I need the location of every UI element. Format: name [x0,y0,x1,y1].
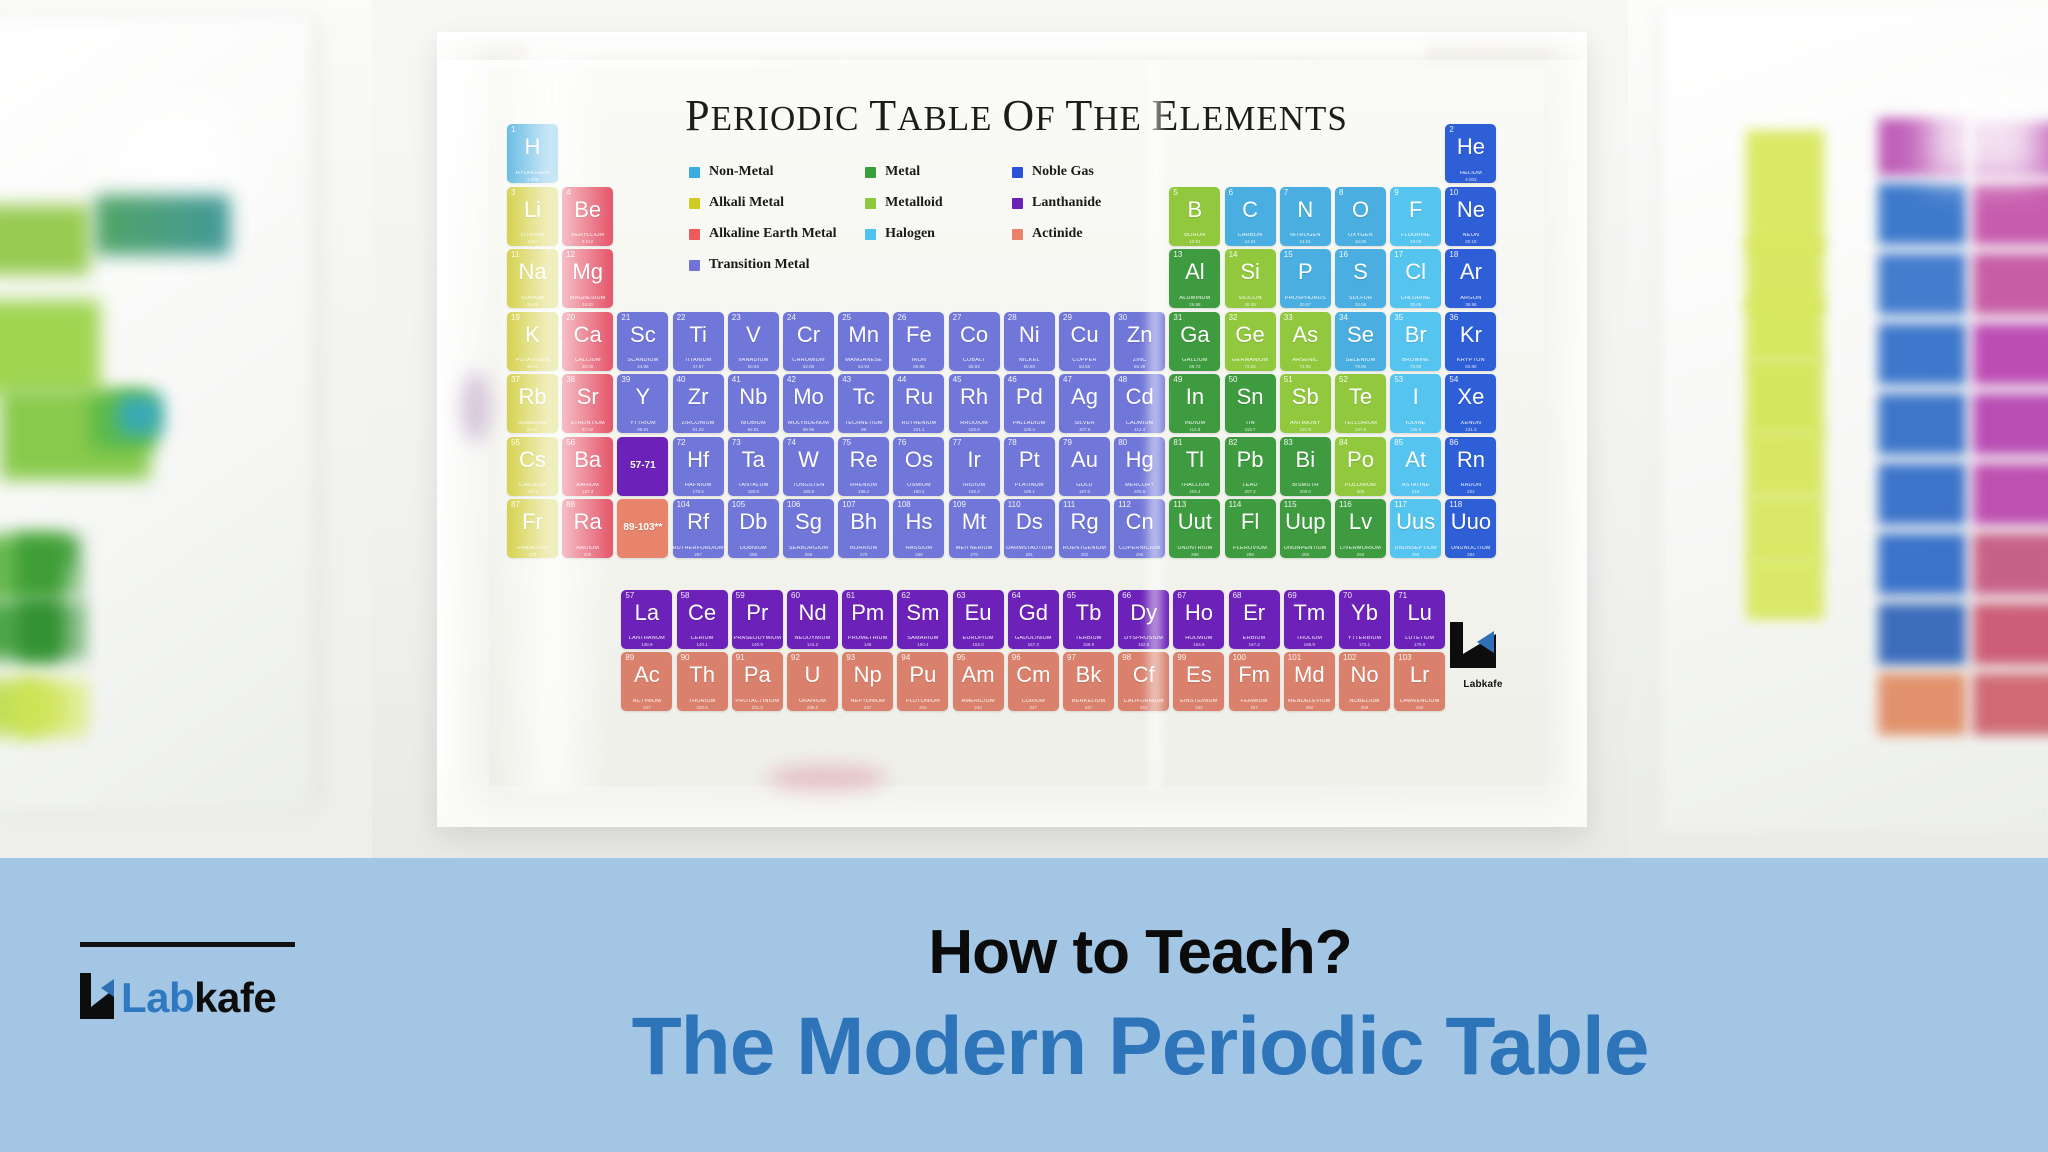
element-name: LEAD [1225,483,1276,489]
atomic-number: 78 [1008,439,1017,447]
atomic-weight: 126.9 [1390,428,1441,433]
element-cell-Ag[interactable]: 47AgSILVER107.9 [1059,374,1110,433]
element-cell-I[interactable]: 53IIODINE126.9 [1390,374,1441,433]
atomic-weight: 259 [1339,706,1390,711]
element-cell-Rf[interactable]: 104RfRUTHERFORDIUM267 [673,499,724,558]
element-name: HELIUM [1445,171,1496,177]
element-cell-Sb[interactable]: 51SbANTIMONY121.8 [1280,374,1331,433]
element-cell-Y[interactable]: 39YYTTRIUM88.91 [617,374,668,433]
element-cell-Sm[interactable]: 62SmSAMARIUM150.4 [897,590,948,649]
element-symbol: Pr [732,602,783,624]
element-name: HAFNIUM [673,483,724,489]
atomic-number: 109 [953,501,966,509]
element-symbol: Sc [617,324,668,346]
atomic-weight: 47.87 [673,365,724,370]
element-cell-Fe[interactable]: 26FeIRON55.85 [893,312,944,371]
element-cell-Fl[interactable]: 114FlFLEROVIUM289 [1225,499,1276,558]
element-name: TANTALUM [728,483,779,489]
element-symbol: Hs [893,511,944,533]
atomic-weight: 32.06 [1335,303,1386,308]
atomic-weight: 267 [673,553,724,558]
atomic-weight: 227 [621,706,672,711]
atomic-number: 94 [901,654,910,662]
element-cell-Po[interactable]: 84PoPOLONIUM209 [1335,437,1386,496]
element-name: THORIUM [677,699,728,705]
atomic-weight: 232.0 [677,706,728,711]
element-name: SEABORGIUM [783,546,834,552]
element-name: TITANIUM [673,358,724,364]
atomic-number: 9 [1394,189,1398,197]
element-symbol: 57-71 [617,461,668,471]
element-name: BERKELIUM [1063,699,1114,705]
element-cell-U[interactable]: 92UURANIUM238.0 [787,652,838,711]
labkafe-mark-icon [1450,622,1496,668]
atomic-weight: 95.96 [783,428,834,433]
element-name: TELLURIUM [1335,421,1386,427]
element-symbol: At [1390,449,1441,471]
element-symbol: Ar [1445,261,1496,283]
element-symbol: Kr [1445,324,1496,346]
element-name: NEODYMIUM [787,636,838,642]
atomic-number: 23 [732,314,741,322]
atomic-number: 80 [1118,439,1127,447]
element-name: ALUMINUM [1169,296,1220,302]
element-symbol: In [1169,386,1220,408]
atomic-number: 30 [1118,314,1127,322]
element-cell-Bi[interactable]: 83BiBISMUTH209.0 [1280,437,1331,496]
atomic-weight: 237 [842,706,893,711]
element-name: MOLYBDENUM [783,421,834,427]
element-cell-Pb[interactable]: 82PbLEAD207.2 [1225,437,1276,496]
element-symbol: Db [728,511,779,533]
element-name: VANADIUM [728,358,779,364]
element-cell-V[interactable]: 23VVANADIUM50.94 [728,312,779,371]
element-name: CHLORINE [1390,296,1441,302]
element-cell-Pr[interactable]: 59PrPRASEODYMIUM140.9 [732,590,783,649]
element-cell-Pa[interactable]: 91PaPROTACTINIUM231.0 [732,652,783,711]
element-symbol: Cm [1008,664,1059,686]
element-cell-Te[interactable]: 52TeTELLURIUM127.6 [1335,374,1386,433]
element-name: THULIUM [1284,636,1335,642]
atomic-number: 93 [846,654,855,662]
atomic-weight: 262 [1394,706,1445,711]
atomic-number: 66 [1122,592,1131,600]
element-symbol: Tc [838,386,889,408]
element-cell-Al[interactable]: 13AlALUMINUM26.98 [1169,249,1220,308]
element-name: XENON [1445,421,1496,427]
element-symbol: F [1390,199,1441,221]
element-symbol: Pd [1004,386,1055,408]
element-cell-Tb[interactable]: 65TbTERBIUM158.9 [1063,590,1114,649]
bottom-banner: Labkafe How to Teach? The Modern Periodi… [0,858,2048,1152]
atomic-number: 61 [846,592,855,600]
element-cell-Ti[interactable]: 22TiTITANIUM47.87 [673,312,724,371]
atomic-weight: 140.9 [732,643,783,648]
atomic-number: 13 [1173,251,1182,259]
atomic-number: 50 [1229,376,1238,384]
element-cell-Re[interactable]: 75ReRHENIUM186.2 [838,437,889,496]
element-symbol: Rh [949,386,1000,408]
element-cell-Gd[interactable]: 64GdGADOLINIUM157.3 [1008,590,1059,649]
element-name: TECHNETIUM [838,421,889,427]
atomic-number: 46 [1008,376,1017,384]
element-cell-Ac[interactable]: 89AcACTINIUM227 [621,652,672,711]
element-cell-Si[interactable]: 14SiSILICON28.09 [1225,249,1276,308]
element-cell-Rn[interactable]: 86RnRADON222 [1445,437,1496,496]
element-symbol: Re [838,449,889,471]
element-cell-P[interactable]: 15PPHOSPHORUS30.97 [1280,249,1331,308]
element-cell-Md[interactable]: 101MdMENDELEVIUM258 [1284,652,1335,711]
element-cell-S[interactable]: 16SSULFUR32.06 [1335,249,1386,308]
periodic-table-poster: PERIODIC TABLE OF THE ELEMENTS Non-Metal… [489,68,1544,786]
atomic-weight: 102.9 [949,428,1000,433]
element-cell-B[interactable]: 5BBORON10.81 [1169,187,1220,246]
atomic-weight: 114.8 [1169,428,1220,433]
element-symbol: Zr [673,386,724,408]
element-name: MENDELEVIUM [1284,699,1335,705]
atomic-number: 58 [681,592,690,600]
element-cell-Se[interactable]: 34SeSELENIUM78.96 [1335,312,1386,371]
atomic-weight: 209.0 [1280,490,1331,495]
element-cell-Kr[interactable]: 36KrKRYPTON83.80 [1445,312,1496,371]
atomic-weight: 26.98 [1169,303,1220,308]
element-name: BORON [1169,233,1220,239]
element-cell-Th[interactable]: 90ThTHORIUM232.0 [677,652,728,711]
atomic-weight: 127.6 [1335,428,1386,433]
element-name: HOLMIUM [1173,636,1224,642]
element-symbol: Uuo [1445,511,1496,533]
element-name: YTTERBIUM [1339,636,1390,642]
element-symbol: Cr [783,324,834,346]
element-cell-Hs[interactable]: 108HsHASSIUM269 [893,499,944,558]
atomic-weight: 209 [1335,490,1386,495]
element-cell-N[interactable]: 7NNITROGEN14.01 [1280,187,1331,246]
element-cell-At[interactable]: 85AtASTATINE210 [1390,437,1441,496]
element-cell-Ta[interactable]: 73TaTANTALUM180.9 [728,437,779,496]
atomic-weight: 289 [1280,553,1331,558]
element-cell-Ho[interactable]: 67HoHOLMIUM164.9 [1173,590,1224,649]
element-name: AMERICIUM [953,699,1004,705]
element-cell-57-71[interactable]: 57-71 [617,437,668,496]
element-cell-Ds[interactable]: 110DsDARMSTADTIUM281 [1004,499,1055,558]
atomic-weight: 244 [897,706,948,711]
atomic-number: 35 [1394,314,1403,322]
element-name: RHENIUM [838,483,889,489]
element-name: PLATINUM [1004,483,1055,489]
element-symbol: Si [1225,261,1276,283]
element-symbol: Po [1335,449,1386,471]
atomic-weight: 183.8 [783,490,834,495]
atomic-weight: 252 [1173,706,1224,711]
element-name: GERMANIUM [1225,358,1276,364]
element-name: NOBELIUM [1339,699,1390,705]
atomic-weight: 50.94 [728,365,779,370]
element-grid: 1HHYDROGEN1.0082HeHELIUM4.0033LiLITHIUM6… [507,124,1527,724]
element-cell-Xe[interactable]: 54XeXENON131.3 [1445,374,1496,433]
element-cell-Np[interactable]: 93NpNEPTUNIUM237 [842,652,893,711]
element-symbol: Bh [838,511,889,533]
element-cell-Lv[interactable]: 116LvLIVERMORIUM293 [1335,499,1386,558]
atomic-weight: 222 [1445,490,1496,495]
atomic-weight: 30.97 [1280,303,1331,308]
atomic-weight: 16.00 [1335,240,1386,245]
element-cell-He[interactable]: 2HeHELIUM4.003 [1445,124,1496,183]
element-cell-Tm[interactable]: 69TmTHULIUM168.9 [1284,590,1335,649]
atomic-number: 48 [1118,376,1127,384]
atomic-weight: 106.4 [1004,428,1055,433]
atomic-number: 51 [1284,376,1293,384]
element-cell-O[interactable]: 8OOXYGEN16.00 [1335,187,1386,246]
element-cell-Ru[interactable]: 44RuRUTHENIUM101.1 [893,374,944,433]
element-name: NEON [1445,233,1496,239]
element-cell-Ga[interactable]: 31GaGALLIUM69.72 [1169,312,1220,371]
element-symbol: V [728,324,779,346]
element-symbol: Tl [1169,449,1220,471]
atomic-number: 68 [1233,592,1242,600]
atomic-number: 97 [1067,654,1076,662]
element-cell-Eu[interactable]: 63EuEUROPIUM152.0 [953,590,1004,649]
element-symbol: Th [677,664,728,686]
atomic-weight: 197.0 [1059,490,1110,495]
element-cell-C[interactable]: 6CCARBON12.01 [1225,187,1276,246]
element-name: KRYPTON [1445,358,1496,364]
element-name: TERBIUM [1063,636,1114,642]
element-cell-Rh[interactable]: 45RhRHODIUM102.9 [949,374,1000,433]
element-symbol: C [1225,199,1276,221]
element-name: UNUNTRIUM [1169,546,1220,552]
atomic-number: 96 [1012,654,1021,662]
element-cell-Cu[interactable]: 29CuCOPPER63.55 [1059,312,1110,371]
element-cell-Au[interactable]: 79AuGOLD197.0 [1059,437,1110,496]
element-cell-Ni[interactable]: 28NiNICKEL58.69 [1004,312,1055,371]
element-cell-Os[interactable]: 76OsOSMIUM190.2 [893,437,944,496]
element-cell-Uut[interactable]: 113UutUNUNTRIUM286 [1169,499,1220,558]
atomic-number: 83 [1284,439,1293,447]
element-cell-Fm[interactable]: 100FmFERMIUM257 [1229,652,1280,711]
element-symbol: B [1169,199,1220,221]
element-symbol: Md [1284,664,1335,686]
element-symbol: Ds [1004,511,1055,533]
element-symbol: Fe [893,324,944,346]
element-name: URANIUM [787,699,838,705]
element-cell-Br[interactable]: 35BrBROMINE79.90 [1390,312,1441,371]
element-cell-Mo[interactable]: 42MoMOLYBDENUM95.96 [783,374,834,433]
atomic-weight: 231.0 [732,706,783,711]
element-name: NICKEL [1004,358,1055,364]
block-logo-label: Labkafe [1450,679,1516,690]
atomic-number: 65 [1067,592,1076,600]
element-symbol: Fm [1229,664,1280,686]
element-cell-Bh[interactable]: 107BhBOHRIUM270 [838,499,889,558]
element-cell-Cl[interactable]: 17ClCHLORINE35.45 [1390,249,1441,308]
element-name: OSMIUM [893,483,944,489]
atomic-number: 44 [897,376,906,384]
element-cell-89-103**[interactable]: 89-103** [617,499,668,558]
element-symbol: Gd [1008,602,1059,624]
atomic-weight: 152.0 [953,643,1004,648]
atomic-weight: 118.7 [1225,428,1276,433]
element-symbol: Co [949,324,1000,346]
element-cell-Db[interactable]: 105DbDUBNIUM268 [728,499,779,558]
element-cell-Ge[interactable]: 32GeGERMANIUM72.63 [1225,312,1276,371]
atomic-number: 8 [1339,189,1343,197]
element-cell-Mn[interactable]: 25MnMANGANESE54.94 [838,312,889,371]
element-cell-Co[interactable]: 27CoCOBALT58.93 [949,312,1000,371]
element-cell-Bk[interactable]: 97BkBERKELIUM247 [1063,652,1114,711]
element-name: TUNGSTEN [783,483,834,489]
element-cell-Es[interactable]: 99EsEINSTEINIUM252 [1173,652,1224,711]
element-symbol: P [1280,261,1331,283]
atomic-weight: 158.9 [1063,643,1114,648]
element-cell-Ar[interactable]: 18ArARGON39.95 [1445,249,1496,308]
atomic-number: 63 [957,592,966,600]
atomic-number: 72 [677,439,686,447]
element-symbol: Ag [1059,386,1110,408]
element-name: DARMSTADTIUM [1004,546,1055,552]
element-name: LUTETIUM [1394,636,1445,642]
element-symbol: Bi [1280,449,1331,471]
banner-labkafe-logo[interactable]: Labkafe [80,942,350,1019]
element-symbol: Hf [673,449,724,471]
atomic-number: 92 [791,654,800,662]
element-symbol: Xe [1445,386,1496,408]
wordmark-kafe: kafe [194,974,276,1021]
element-symbol: Br [1390,324,1441,346]
atomic-number: 27 [953,314,962,322]
atomic-weight: 121.8 [1280,428,1331,433]
atomic-number: 81 [1173,439,1182,447]
atomic-number: 54 [1449,376,1458,384]
atomic-number: 53 [1394,376,1403,384]
element-cell-Zr[interactable]: 40ZrZIRCONIUM91.22 [673,374,724,433]
element-symbol: S [1335,261,1386,283]
element-name: CERIUM [677,636,728,642]
element-cell-Tl[interactable]: 81TlTHALLIUM204.4 [1169,437,1220,496]
element-cell-F[interactable]: 9FFLUORINE19.00 [1390,187,1441,246]
element-cell-La[interactable]: 57LaLANTHANUM138.9 [621,590,672,649]
atomic-weight: 145 [842,643,893,648]
element-cell-Uuo[interactable]: 118UuoUNUNOCTIUM294 [1445,499,1496,558]
element-cell-Uus[interactable]: 117UusUNUNSEPTIUM294 [1390,499,1441,558]
atomic-weight: 69.72 [1169,365,1220,370]
atomic-number: 2 [1449,126,1453,134]
element-name: IRON [893,358,944,364]
atomic-weight: 281 [1004,553,1055,558]
atomic-weight: 35.45 [1390,303,1441,308]
element-symbol: Nd [787,602,838,624]
element-cell-Sg[interactable]: 106SgSEABORGIUM269 [783,499,834,558]
element-cell-Hf[interactable]: 72HfHAFNIUM178.5 [673,437,724,496]
element-symbol: Al [1169,261,1220,283]
element-cell-Ce[interactable]: 58CeCERIUM140.1 [677,590,728,649]
element-name: UNUNSEPTIUM [1390,546,1441,552]
atomic-weight: 88.91 [617,428,668,433]
element-cell-Uup[interactable]: 115UupUNUNPENTIUM289 [1280,499,1331,558]
element-symbol: Mo [783,386,834,408]
element-cell-No[interactable]: 102NoNOBELIUM259 [1339,652,1390,711]
element-symbol: Au [1059,449,1110,471]
atomic-number: 118 [1449,501,1462,509]
element-name: THALLIUM [1169,483,1220,489]
acrylic-top-light [527,40,1427,70]
element-cell-Nb[interactable]: 41NbNIOBIUM92.91 [728,374,779,433]
element-cell-Tc[interactable]: 43TcTECHNETIUM98 [838,374,889,433]
element-cell-Lr[interactable]: 103LrLAWRENCIUM262 [1394,652,1445,711]
atomic-weight: 207.2 [1225,490,1276,495]
element-cell-Yb[interactable]: 70YbYTTERBIUM173.1 [1339,590,1390,649]
element-cell-Sc[interactable]: 21ScSCANDIUM44.96 [617,312,668,371]
element-cell-Ne[interactable]: 10NeNEON20.18 [1445,187,1496,246]
atomic-weight: 294 [1445,553,1496,558]
element-cell-Pm[interactable]: 61PmPROMETHIUM145 [842,590,893,649]
element-symbol: Ge [1225,324,1276,346]
element-cell-As[interactable]: 33AsARSENIC74.92 [1280,312,1331,371]
atomic-number: 79 [1063,439,1072,447]
element-cell-Sn[interactable]: 50SnTIN118.7 [1225,374,1276,433]
background-right-blurred-poster [1628,0,2048,858]
element-cell-Mt[interactable]: 109MtMEITNERIUM278 [949,499,1000,558]
element-symbol: O [1335,199,1386,221]
element-name: SULFUR [1335,296,1386,302]
element-cell-Pu[interactable]: 94PuPLUTONIUM244 [897,652,948,711]
element-name: GADOLINIUM [1008,636,1059,642]
atomic-weight: 63.55 [1059,365,1110,370]
element-cell-Pt[interactable]: 78PtPLATINUM195.1 [1004,437,1055,496]
element-symbol: Cl [1390,261,1441,283]
atomic-number: 101 [1288,654,1301,662]
atomic-number: 31 [1173,314,1182,322]
atomic-weight: 44.96 [617,365,668,370]
element-cell-Nd[interactable]: 60NdNEODYMIUM144.2 [787,590,838,649]
element-cell-W[interactable]: 74WTUNGSTEN183.8 [783,437,834,496]
element-symbol: Ho [1173,602,1224,624]
element-symbol: Mn [838,324,889,346]
element-name: ARGON [1445,296,1496,302]
element-symbol: Uut [1169,511,1220,533]
element-cell-Ir[interactable]: 77IrIRIDIUM192.2 [949,437,1000,496]
element-cell-Cm[interactable]: 96CmCURIUM247 [1008,652,1059,711]
element-cell-Cr[interactable]: 24CrCHROMIUM52.00 [783,312,834,371]
element-cell-Rg[interactable]: 111RgROENTGENIUM282 [1059,499,1110,558]
atomic-weight: 12.01 [1225,240,1276,245]
element-cell-Am[interactable]: 95AmAMERICIUM243 [953,652,1004,711]
element-name: ROENTGENIUM [1059,546,1110,552]
element-name: EUROPIUM [953,636,1004,642]
element-symbol: Pt [1004,449,1055,471]
atomic-number: 21 [621,314,630,322]
element-cell-Pd[interactable]: 46PdPALLADIUM106.4 [1004,374,1055,433]
element-cell-In[interactable]: 49InINDIUM114.8 [1169,374,1220,433]
atomic-number: 91 [736,654,745,662]
element-symbol: Uus [1390,511,1441,533]
atomic-weight: 39.95 [1445,303,1496,308]
atomic-number: 89 [625,654,634,662]
acrylic-highlight [492,52,612,792]
element-cell-Er[interactable]: 68ErERBIUM167.3 [1229,590,1280,649]
element-name: BISMUTH [1280,483,1331,489]
atomic-number: 84 [1339,439,1348,447]
element-symbol: Pb [1225,449,1276,471]
atomic-number: 110 [1008,501,1021,509]
atomic-weight: 269 [783,553,834,558]
atomic-number: 45 [953,376,962,384]
atomic-number: 76 [897,439,906,447]
element-symbol: Lu [1394,602,1445,624]
element-name: IODINE [1390,421,1441,427]
atomic-number: 114 [1229,501,1242,509]
element-cell-Lu[interactable]: 71LuLUTETIUM175.0 [1394,590,1445,649]
atomic-number: 36 [1449,314,1458,322]
